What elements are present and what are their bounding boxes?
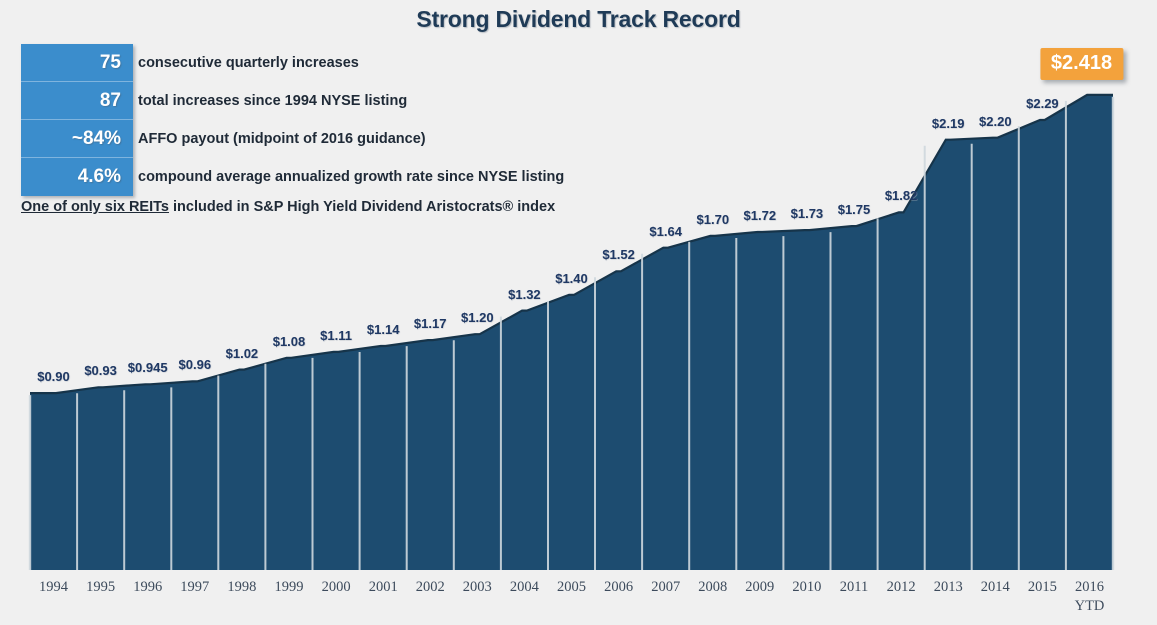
stat-label: total increases since 1994 NYSE listing [138, 82, 778, 120]
data-label: $1.17 [414, 316, 447, 331]
stat-row: 4.6% [21, 158, 133, 196]
footnote-rest: included in S&P High Yield Dividend Aris… [169, 199, 555, 215]
x-axis-tick-year: 2014 [981, 579, 1010, 595]
stat-label: consecutive quarterly increases [138, 44, 778, 82]
x-axis-tick-year: 2000 [322, 579, 351, 595]
stat-value: ~84% [72, 128, 121, 150]
data-label: $1.32 [508, 287, 541, 302]
x-axis-tick-year: 2015 [1028, 579, 1057, 595]
data-label: $1.64 [649, 224, 682, 239]
highlight-badge: $2.418 [1040, 48, 1123, 80]
x-axis-tick: 2000 [322, 578, 351, 597]
x-axis-tick-year: 2012 [887, 579, 916, 595]
x-axis-tick: 2005 [557, 578, 586, 597]
data-label: $1.20 [461, 310, 494, 325]
stat-value: 75 [100, 52, 121, 74]
stat-label-list: consecutive quarterly increasestotal inc… [138, 44, 778, 196]
x-axis-tick-year: 2010 [792, 579, 821, 595]
x-axis-tick-year: 1998 [227, 579, 256, 595]
stat-row: ~84% [21, 120, 133, 158]
x-axis-tick-year: 2013 [934, 579, 963, 595]
x-axis-tick-year: 2011 [840, 579, 868, 595]
stat-row: 75 [21, 44, 133, 82]
x-axis-tick: 2003 [463, 578, 492, 597]
stat-value: 4.6% [78, 166, 121, 188]
x-axis-tick: 2012 [887, 578, 916, 597]
x-axis-tick-year: 2009 [745, 579, 774, 595]
x-axis-tick: 2001 [369, 578, 398, 597]
data-label: $1.08 [273, 334, 306, 349]
data-label: $2.19 [932, 116, 965, 131]
data-label: $0.96 [179, 357, 212, 372]
data-label: $1.82 [885, 188, 918, 203]
x-axis-tick: 2010 [792, 578, 821, 597]
x-axis-tick: 2002 [416, 578, 445, 597]
x-axis-tick: 2013 [934, 578, 963, 597]
data-label: $0.945 [128, 360, 168, 375]
data-label: $1.14 [367, 322, 400, 337]
stat-value: 87 [100, 90, 121, 112]
x-axis-tick-year: 1995 [86, 579, 115, 595]
x-axis-tick-year: 2005 [557, 579, 586, 595]
x-axis-tick-year: 1997 [180, 579, 209, 595]
x-axis-labels: 1994199519961997199819992000200120022003… [0, 578, 1157, 624]
data-label: $0.90 [37, 369, 70, 384]
x-axis-tick-sub: YTD [1075, 597, 1105, 616]
x-axis-tick-year: 2002 [416, 579, 445, 595]
x-axis-tick-year: 2006 [604, 579, 633, 595]
data-label: $2.20 [979, 114, 1012, 129]
x-axis-tick-year: 2003 [463, 579, 492, 595]
data-label: $1.11 [320, 328, 352, 343]
x-axis-tick: 1998 [227, 578, 256, 597]
x-axis-tick: 1996 [133, 578, 162, 597]
stat-label: AFFO payout (midpoint of 2016 guidance) [138, 120, 778, 158]
x-axis-tick-year: 1999 [275, 579, 304, 595]
stat-row: 87 [21, 82, 133, 120]
data-label: $1.73 [791, 206, 824, 221]
data-label: $1.52 [602, 247, 635, 262]
x-axis-tick: 1994 [39, 578, 68, 597]
data-label: $1.70 [697, 212, 730, 227]
x-axis-tick-year: 1994 [39, 579, 68, 595]
x-axis-tick: 1999 [275, 578, 304, 597]
data-label: $0.93 [84, 363, 117, 378]
x-axis-tick: 2009 [745, 578, 774, 597]
x-axis-tick: 2006 [604, 578, 633, 597]
footnote-underlined: One of only six REITs [21, 199, 169, 215]
x-axis-tick-year: 2008 [698, 579, 727, 595]
x-axis-tick: 2004 [510, 578, 539, 597]
x-axis-tick-year: 1996 [133, 579, 162, 595]
x-axis-tick: 2011 [840, 578, 868, 597]
x-axis-tick-year: 2004 [510, 579, 539, 595]
x-axis-tick: 2016YTD [1075, 578, 1105, 616]
x-axis-tick: 2007 [651, 578, 680, 597]
page-title: Strong Dividend Track Record [0, 6, 1157, 33]
x-axis-tick: 2014 [981, 578, 1010, 597]
data-label: $1.40 [555, 271, 588, 286]
footnote: One of only six REITs included in S&P Hi… [21, 199, 555, 215]
x-axis-tick-year: 2001 [369, 579, 398, 595]
x-axis-tick-year: 2016 [1075, 579, 1104, 595]
x-axis-tick: 1997 [180, 578, 209, 597]
data-label: $1.75 [838, 202, 871, 217]
x-axis-tick-year: 2007 [651, 579, 680, 595]
x-axis-tick: 2015 [1028, 578, 1057, 597]
data-label: $1.02 [226, 346, 259, 361]
stat-label: compound average annualized growth rate … [138, 158, 778, 196]
stat-callout-box: 7587~84%4.6% [21, 44, 133, 196]
x-axis-tick: 2008 [698, 578, 727, 597]
data-label: $1.72 [744, 208, 777, 223]
x-axis-tick: 1995 [86, 578, 115, 597]
chart-root: Strong Dividend Track Record 7587~84%4.6… [0, 0, 1157, 625]
data-label: $2.29 [1026, 96, 1059, 111]
